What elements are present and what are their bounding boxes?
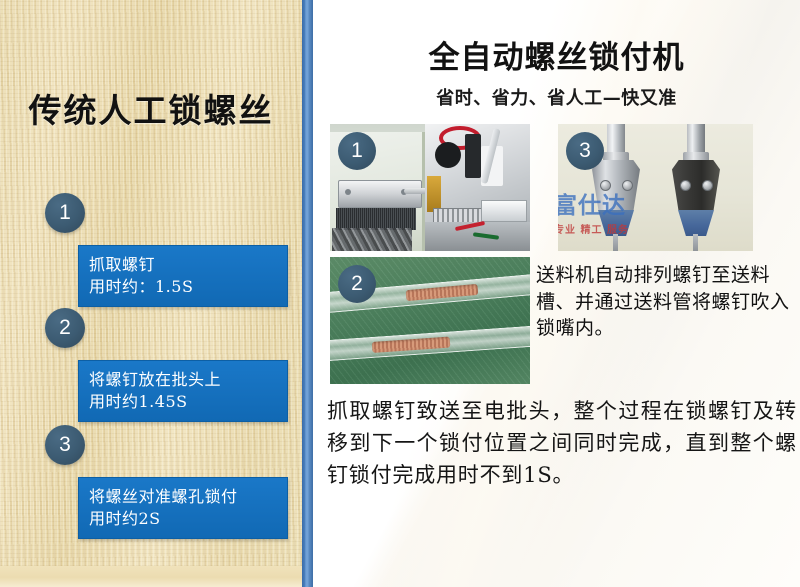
watermark-brand-text: 富仕达: [558, 186, 694, 220]
step-badge-1: 1: [45, 193, 85, 233]
feeder-rail-block-shape: [338, 180, 422, 208]
left-panel-manual-method: 传统人工锁螺丝 1 抓取螺钉 用时约：1.5S 2 将螺钉放在批头上 用时约1.…: [0, 0, 302, 566]
right-panel-subtitle: 省时、省力、省人工—快又准: [313, 84, 800, 110]
step-3-line-1: 将螺丝对准螺孔锁付: [89, 486, 287, 508]
step-box-1: 抓取螺钉 用时约：1.5S: [78, 245, 288, 307]
step-2-line-2: 用时约1.45S: [89, 391, 287, 413]
machine-body-shape: [425, 124, 530, 251]
loose-screws-shape: [332, 228, 412, 251]
photo-badge-3: 3: [566, 132, 604, 170]
photo-badge-2: 2: [338, 265, 376, 303]
photo-feed-tubes-with-screws: 2: [330, 257, 530, 384]
panel-divider: [302, 0, 313, 587]
right-panel-automatic-machine: 全自动螺丝锁付机 省时、省力、省人工—快又准 1: [313, 0, 800, 587]
nozzle-bolt-right-shape: [702, 180, 713, 191]
metal-plate-shape: [481, 200, 527, 222]
photo-badge-1: 1: [338, 132, 376, 170]
brass-plate-shape: [427, 176, 441, 212]
step-2-line-1: 将螺钉放在批头上: [89, 369, 287, 391]
step-badge-2: 2: [45, 308, 85, 348]
screw-row-bottom-shape: [372, 337, 451, 353]
watermark-tagline-text: 专业 精工 服务: [558, 221, 694, 236]
photo-screw-feeder-machine: 1: [330, 124, 530, 251]
left-panel-bottom-strip: [0, 566, 302, 587]
black-bracket-shape: [465, 134, 481, 178]
step-1-line-2: 用时约：1.5S: [89, 276, 287, 298]
left-panel-title: 传统人工锁螺丝: [0, 84, 302, 132]
screw-row-top-shape: [406, 284, 479, 301]
step-1-line-1: 抓取螺钉: [89, 254, 287, 276]
feeder-caption-text: 送料机自动排列螺钉至送料槽、并通过送料管将螺钉吹入锁嘴内。: [536, 262, 798, 342]
nozzle-pin-shape: [613, 234, 618, 251]
photo-locking-nozzles: 富仕达 专业 精工 服务 3: [558, 124, 753, 251]
step-box-2: 将螺钉放在批头上 用时约1.45S: [78, 360, 288, 422]
step-3-line-2: 用时约2S: [89, 508, 287, 530]
right-panel-title: 全自动螺丝锁付机: [313, 32, 800, 77]
brand-watermark: 富仕达 专业 精工 服务: [558, 186, 694, 236]
step-box-3: 将螺丝对准螺孔锁付 用时约2S: [78, 477, 288, 539]
step-badge-3: 3: [45, 425, 85, 465]
panel-divider-highlight: [305, 0, 310, 587]
black-motor-shape: [435, 142, 461, 168]
nozzle-pin-shape: [693, 234, 698, 251]
slide-root: 传统人工锁螺丝 1 抓取螺钉 用时约：1.5S 2 将螺钉放在批头上 用时约1.…: [0, 0, 800, 587]
feeder-brush-shape: [336, 208, 416, 230]
process-description-paragraph: 抓取螺钉致送至电批头，整个过程在锁螺钉及转移到下一个锁付位置之间同时完成，直到整…: [327, 396, 797, 492]
